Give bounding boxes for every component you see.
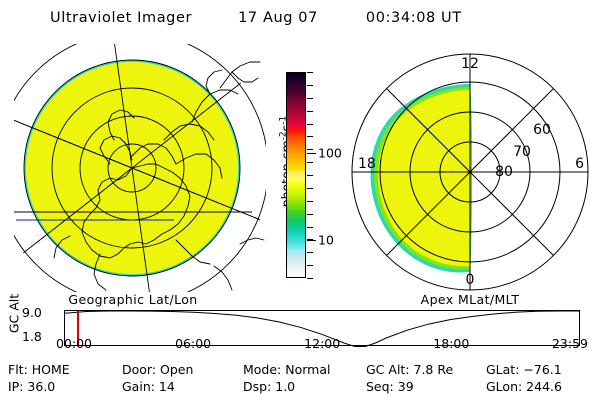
colorbar[interactable]: photon cm-2s-1 10010 — [268, 58, 342, 290]
observation-date: 17 Aug 07 — [238, 10, 318, 26]
status-glat: GLat: −76.1 — [486, 362, 562, 377]
colorbar-minor-tick — [307, 98, 313, 99]
status-ip: IP: 36.0 — [8, 379, 55, 394]
apex-polar-panel[interactable]: 12 18 6 0 60 70 80 — [344, 44, 596, 292]
latitude-ring-label-70: 70 — [513, 144, 531, 160]
status-gc-alt: GC Alt: 7.8 Re — [366, 362, 453, 377]
colorbar-minor-tick — [307, 111, 313, 112]
latitude-ring-label-80: 80 — [495, 164, 513, 180]
colorbar-minor-tick — [307, 201, 313, 202]
page-title: Ultraviolet Imager — [50, 10, 192, 26]
status-seq: Seq: 39 — [366, 379, 414, 394]
colorbar-minor-tick — [307, 124, 313, 125]
mlt-label-top: 12 — [461, 56, 479, 72]
status-gain: Gain: 14 — [122, 379, 175, 394]
mlt-label-right: 6 — [575, 156, 584, 172]
status-flight: Flt: HOME — [8, 362, 70, 377]
orbit-y-axis-label: GC Alt — [7, 294, 22, 334]
geographic-map-panel[interactable] — [14, 44, 266, 292]
status-row-top: Flt: HOME Door: Open Mode: Normal GC Alt… — [0, 362, 600, 379]
colorbar-minor-tick — [307, 188, 313, 189]
status-mode: Mode: Normal — [243, 362, 330, 377]
colorbar-minor-tick — [307, 214, 313, 215]
orbit-x-tick-4: 23:59 — [552, 336, 588, 351]
colorbar-minor-tick — [307, 72, 313, 73]
orbit-x-tick-3: 18:00 — [433, 336, 469, 351]
uv-imager-window: Ultraviolet Imager 17 Aug 07 00:34:08 UT — [0, 0, 600, 400]
mlt-label-left: 18 — [358, 156, 376, 172]
colorbar-major-tick — [307, 240, 316, 241]
colorbar-label-10: 10 — [318, 232, 334, 247]
colorbar-box — [286, 72, 306, 278]
colorbar-minor-tick — [307, 252, 313, 253]
colorbar-minor-tick — [307, 136, 313, 137]
colorbar-minor-tick — [307, 162, 313, 163]
geographic-map-svg — [14, 44, 266, 292]
status-bar: Flt: HOME Door: Open Mode: Normal GC Alt… — [0, 360, 600, 400]
orbit-x-tick-1: 06:00 — [175, 336, 211, 351]
status-dsp: Dsp: 1.0 — [243, 379, 295, 394]
mlt-label-bottom: 0 — [466, 272, 475, 288]
colorbar-minor-tick — [307, 278, 313, 279]
aurora-oval-patch — [371, 84, 473, 273]
colorbar-gradient — [287, 73, 305, 277]
orbit-y-tick-min: 1.8 — [22, 329, 42, 344]
colorbar-minor-tick — [307, 265, 313, 266]
colorbar-minor-tick — [307, 175, 313, 176]
orbit-y-tick-max: 9.0 — [22, 305, 42, 320]
apex-graticule — [352, 54, 588, 290]
colorbar-major-tick — [307, 153, 316, 154]
colorbar-minor-tick — [307, 85, 313, 86]
page-header: Ultraviolet Imager 17 Aug 07 00:34:08 UT — [0, 6, 600, 30]
status-row-bottom: IP: 36.0 Gain: 14 Dsp: 1.0 Seq: 39 GLon:… — [0, 379, 600, 396]
orbit-x-tick-2: 12:00 — [304, 336, 340, 351]
colorbar-minor-tick — [307, 227, 313, 228]
colorbar-minor-tick — [307, 149, 313, 150]
orbit-altitude-plot[interactable]: GC Alt 9.0 1.8 00:0006:0012:0018:0023:59 — [0, 300, 600, 356]
apex-polar-svg: 12 18 6 0 60 70 80 — [344, 44, 596, 292]
status-door: Door: Open — [122, 362, 193, 377]
observation-time: 00:34:08 UT — [366, 10, 462, 26]
colorbar-label-100: 100 — [318, 146, 342, 161]
latitude-ring-label-60: 60 — [533, 122, 551, 138]
orbit-x-tick-0: 00:00 — [56, 336, 92, 351]
status-glon: GLon: 244.6 — [486, 379, 562, 394]
